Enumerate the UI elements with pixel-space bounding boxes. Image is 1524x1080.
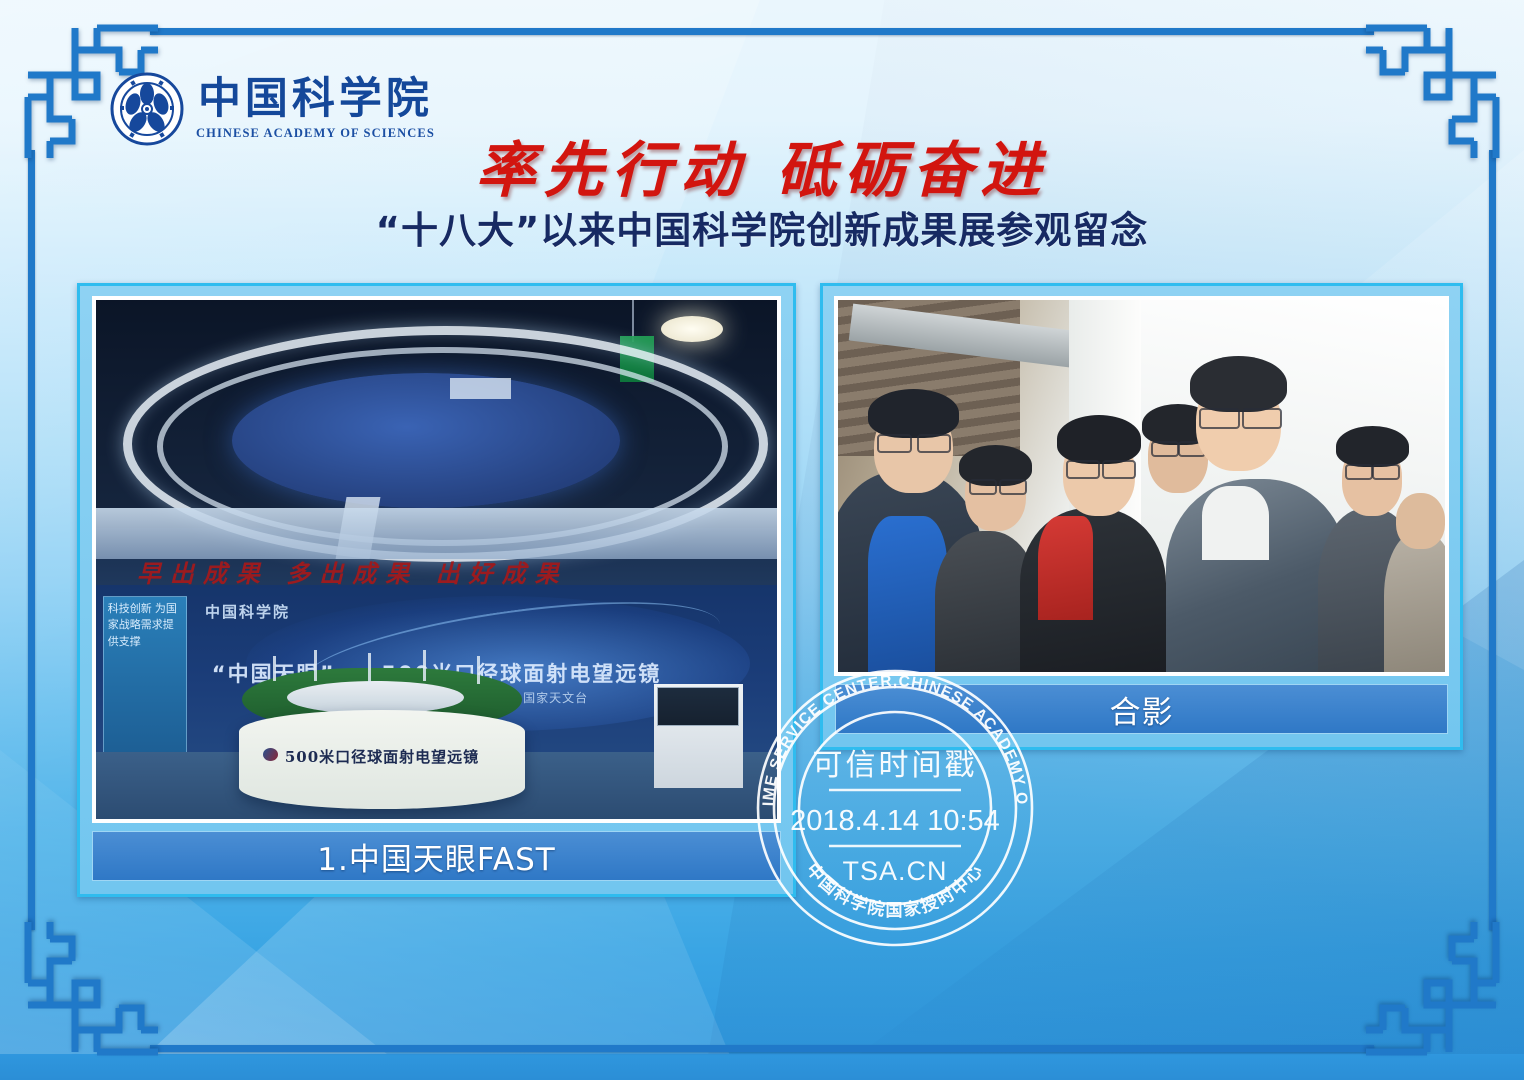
person-1-glasses-icon-right: [917, 434, 951, 453]
page-title-main: 率先行动 砥砺奋进: [0, 122, 1524, 209]
person-4-glasses-icon: [1151, 441, 1179, 457]
person-7-body: [1384, 531, 1449, 672]
person-6-glasses-icon: [1345, 464, 1373, 481]
person-2-glasses-icon-right: [999, 479, 1027, 496]
person-2-glasses-icon: [969, 479, 997, 496]
person-1-hair: [868, 389, 959, 437]
group-photo-scene: [838, 300, 1445, 672]
hall-org-logo-text: 中国科学院: [205, 601, 290, 622]
photo-panel-fast: 早出成果 多出成果 出好成果 中国科学院 科技创新 为国家战略需求提供支撑 “中…: [77, 283, 796, 897]
cas-logo-cn-text: 中国科学院: [198, 78, 433, 121]
hall-scene: 早出成果 多出成果 出好成果 中国科学院 科技创新 为国家战略需求提供支撑 “中…: [96, 300, 777, 819]
wall-beam: [96, 508, 777, 560]
photo-panel-group: 合影: [820, 283, 1463, 750]
background-bottom-band: [0, 1054, 1524, 1080]
person-5-collar: [1202, 486, 1269, 560]
fast-tower-1: [273, 656, 276, 682]
person-7-head: [1396, 493, 1445, 549]
ceiling-dome: [232, 373, 620, 508]
person-5-hair: [1190, 356, 1287, 412]
person-3-hair: [1057, 415, 1142, 463]
person-6-hair: [1336, 426, 1409, 467]
caption-fast: 1.中国天眼FAST: [92, 831, 781, 881]
frame-border-top: [150, 28, 1374, 35]
visitor-group-photo: [834, 296, 1449, 676]
person-3-glasses-icon-right: [1102, 460, 1136, 479]
frame-border-left: [28, 150, 35, 930]
page-title-subtitle: “十八大”以来中国科学院创新成果展参观留念: [0, 200, 1524, 254]
fast-tower-2: [314, 650, 317, 681]
ceiling-strut-2: [450, 378, 511, 399]
side-info-board: 科技创新 为国家战略需求提供支撑: [103, 596, 187, 754]
meander-corner-icon-bottom-right: [1356, 912, 1502, 1058]
hall-banner-text: 早出成果 多出成果 出好成果: [137, 554, 736, 589]
frame-border-right: [1489, 150, 1496, 930]
poster-canvas: 中国科学院 CHINESE ACADEMY OF SCIENCES 率先行动 砥…: [0, 0, 1524, 1080]
side-info-board-text: 科技创新 为国家战略需求提供支撑: [104, 597, 186, 655]
fast-tower-5: [477, 656, 480, 685]
sign-wire: [632, 300, 634, 342]
fast-exhibition-hall-photo: 早出成果 多出成果 出好成果 中国科学院 科技创新 为国家战略需求提供支撑 “中…: [92, 296, 781, 823]
meander-corner-icon-bottom-left: [22, 912, 168, 1058]
person-5-glasses-icon: [1199, 408, 1239, 429]
person-3-red-jacket: [1038, 516, 1093, 620]
frame-border-bottom: [150, 1045, 1374, 1052]
person-1-glasses-icon: [877, 434, 911, 453]
ceiling-lamp-icon: [661, 316, 723, 342]
fast-model-label: 500米口径球面射电望远镜: [253, 746, 512, 767]
person-5-glasses-icon-right: [1242, 408, 1282, 429]
person-3-glasses-icon: [1066, 460, 1100, 479]
info-kiosk-screen: [657, 687, 739, 725]
person-6-glasses-icon-right: [1372, 464, 1400, 481]
fast-tower-3: [368, 653, 371, 684]
fast-tower-4: [423, 650, 426, 681]
caption-group-photo: 合影: [835, 684, 1448, 734]
